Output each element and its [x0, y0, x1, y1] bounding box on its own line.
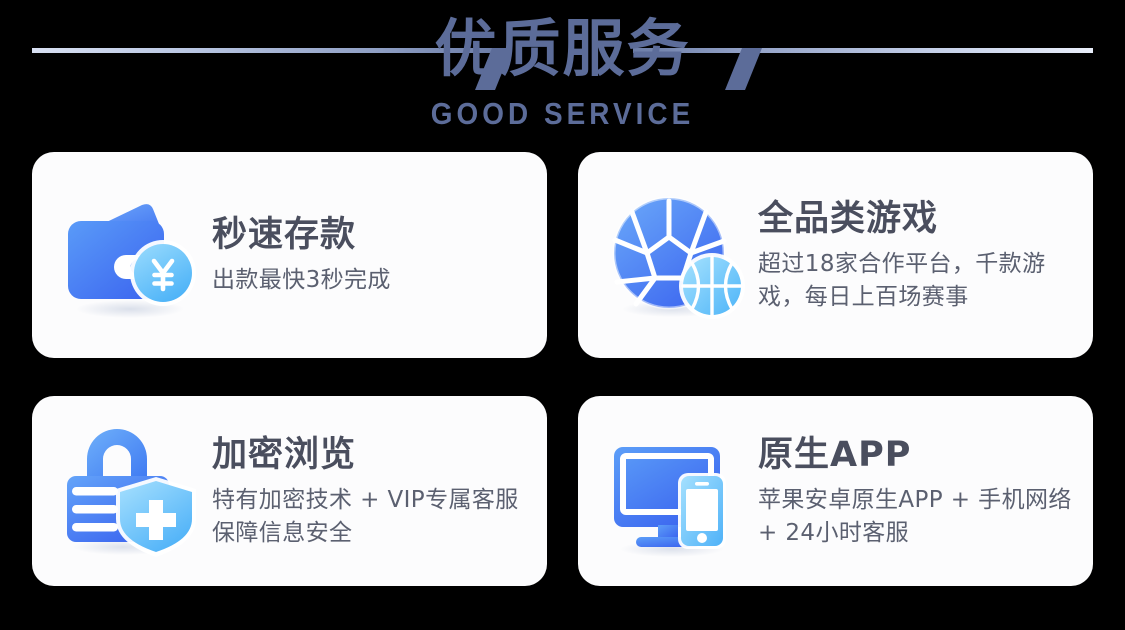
banner-header: 优质服务 GOOD SERVICE: [0, 0, 1125, 148]
feature-card-text: 加密浏览 特有加密技术 + VIP专属客服保障信息安全: [212, 433, 547, 550]
feature-card-text: 原生APP 苹果安卓原生APP + 手机网络 + 24小时客服: [758, 433, 1093, 550]
page-subtitle: GOOD SERVICE: [56, 96, 1069, 132]
feature-card-desc: 特有加密技术 + VIP专属客服保障信息安全: [212, 484, 531, 550]
feature-card-title: 原生APP: [758, 433, 1077, 477]
feature-card-games[interactable]: 全品类游戏 超过18家合作平台，千款游戏，每日上百场赛事: [578, 152, 1093, 358]
monitor-phone-icon: [606, 421, 752, 561]
wallet-yen-icon: [60, 185, 206, 325]
promo-banner: 优质服务 GOOD SERVICE: [0, 0, 1125, 630]
feature-card-desc: 超过18家合作平台，千款游戏，每日上百场赛事: [758, 248, 1077, 314]
feature-card-encryption[interactable]: 加密浏览 特有加密技术 + VIP专属客服保障信息安全: [32, 396, 547, 586]
feature-card-desc: 苹果安卓原生APP + 手机网络 + 24小时客服: [758, 484, 1077, 550]
feature-card-title: 秒速存款: [212, 213, 531, 257]
soccer-basketball-icon: [606, 185, 752, 325]
feature-card-native-app[interactable]: 原生APP 苹果安卓原生APP + 手机网络 + 24小时客服: [578, 396, 1093, 586]
feature-card-title: 全品类游戏: [758, 197, 1077, 241]
feature-card-text: 秒速存款 出款最快3秒完成: [212, 213, 547, 297]
feature-card-grid: 秒速存款 出款最快3秒完成: [32, 152, 1093, 586]
lock-shield-icon: [60, 421, 206, 561]
page-title: 优质服务: [0, 6, 1125, 92]
feature-card-deposit[interactable]: 秒速存款 出款最快3秒完成: [32, 152, 547, 358]
feature-card-desc: 出款最快3秒完成: [212, 264, 531, 297]
feature-card-text: 全品类游戏 超过18家合作平台，千款游戏，每日上百场赛事: [758, 197, 1093, 314]
feature-card-title: 加密浏览: [212, 433, 531, 477]
